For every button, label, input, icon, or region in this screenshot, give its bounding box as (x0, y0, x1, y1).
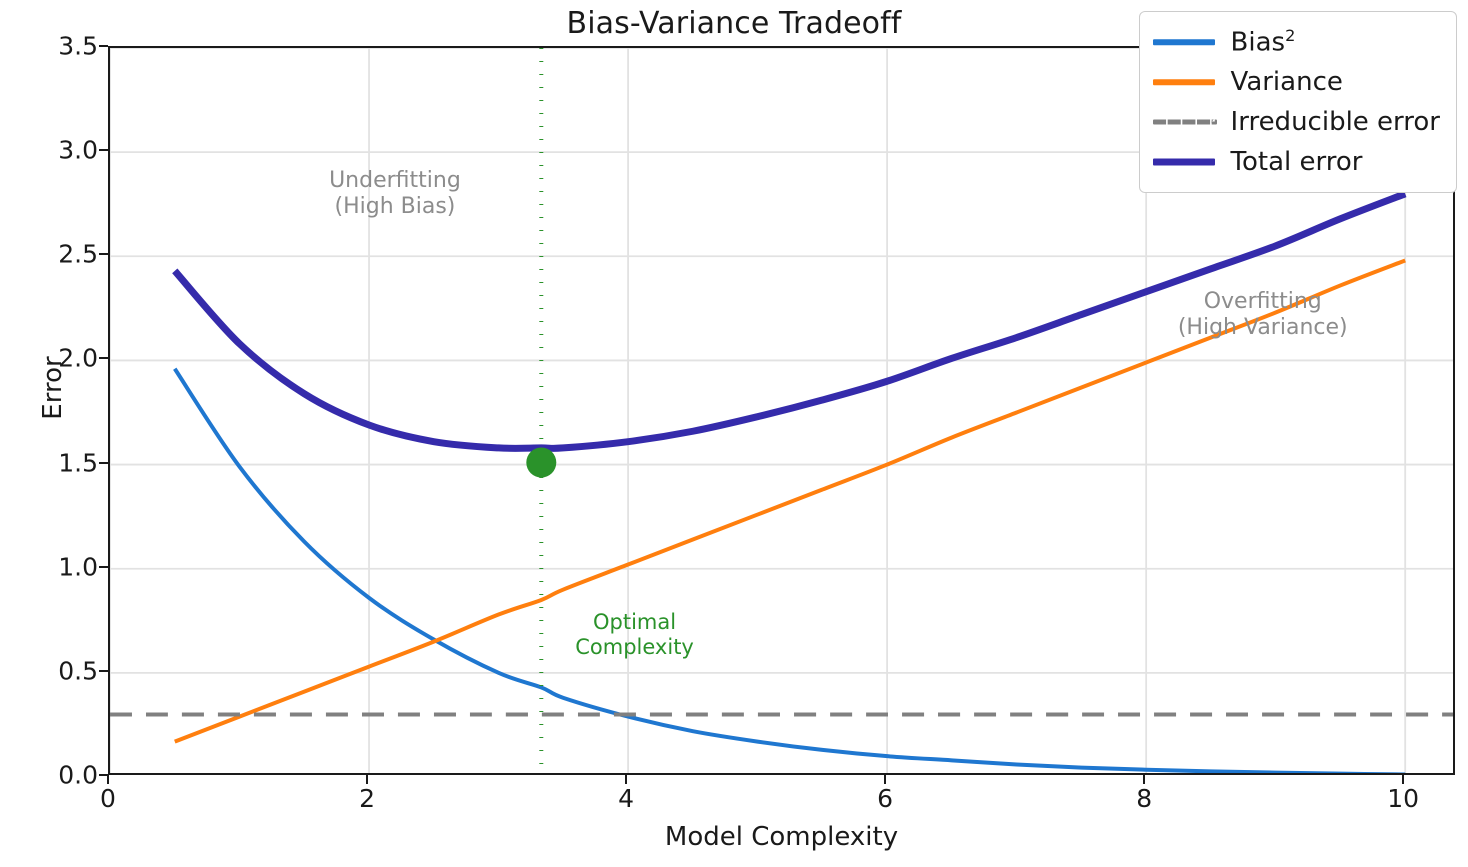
x-axis-label: Model Complexity (108, 822, 1455, 852)
x-tick-label: 4 (586, 784, 666, 813)
series-line-total (175, 194, 1405, 449)
y-tick-label: 1.5 (12, 448, 98, 477)
legend-label-total: Total error (1231, 147, 1363, 177)
legend-label-bias: Bias2 (1231, 26, 1296, 58)
legend-swatch-total (1153, 151, 1215, 173)
y-tick-label: 1.0 (12, 552, 98, 581)
x-tick-label: 2 (327, 784, 407, 813)
y-tick-label: 2.5 (12, 240, 98, 269)
y-tick-mark (99, 149, 108, 151)
legend-item-irreducible[interactable]: Irreducible error (1153, 102, 1440, 142)
chart-legend[interactable]: Bias2VarianceIrreducible errorTotal erro… (1139, 11, 1457, 193)
y-tick-mark (99, 253, 108, 255)
y-tick-mark (99, 357, 108, 359)
y-tick-mark (99, 670, 108, 672)
y-tick-mark (99, 45, 108, 47)
legend-item-bias[interactable]: Bias2 (1153, 22, 1440, 62)
series-line-variance (175, 260, 1405, 741)
legend-label-irreducible: Irreducible error (1231, 107, 1440, 137)
y-tick-label: 2.0 (12, 344, 98, 373)
legend-swatch-variance (1153, 71, 1215, 93)
legend-item-total[interactable]: Total error (1153, 142, 1440, 182)
x-tick-mark (366, 775, 368, 784)
legend-label-variance: Variance (1231, 67, 1343, 97)
legend-swatch-bias (1153, 31, 1215, 53)
series-line-bias (175, 369, 1405, 775)
chart-figure: Bias-Variance Tradeoff Error 0.00.51.01.… (0, 0, 1468, 867)
x-tick-mark (107, 775, 109, 784)
x-tick-label: 0 (68, 784, 148, 813)
y-tick-mark (99, 566, 108, 568)
y-tick-label: 3.0 (12, 136, 98, 165)
y-tick-label: 0.5 (12, 656, 98, 685)
x-tick-label: 10 (1363, 784, 1443, 813)
y-tick-mark (99, 462, 108, 464)
legend-swatch-irreducible (1153, 111, 1215, 133)
x-tick-label: 8 (1104, 784, 1184, 813)
x-tick-mark (625, 775, 627, 784)
x-tick-mark (1143, 775, 1145, 784)
x-tick-mark (1402, 775, 1404, 784)
x-tick-label: 6 (845, 784, 925, 813)
legend-item-variance[interactable]: Variance (1153, 62, 1440, 102)
optimal-point (526, 447, 556, 477)
x-tick-mark (884, 775, 886, 784)
y-tick-label: 3.5 (12, 32, 98, 61)
